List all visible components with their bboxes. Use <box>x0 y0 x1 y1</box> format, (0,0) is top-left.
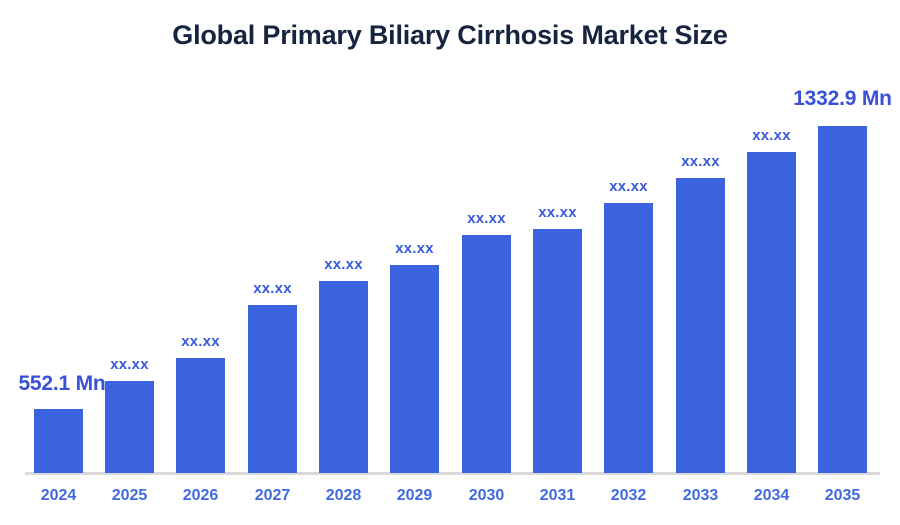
bar-2033[interactable] <box>676 178 725 473</box>
bar-value-label-2024: 552.1 Mn <box>10 372 114 396</box>
bar-value-label-2030: xx.xx <box>453 210 520 227</box>
x-tick-2031: 2031 <box>528 487 588 505</box>
bar-2032[interactable] <box>604 203 653 473</box>
x-tick-2027: 2027 <box>243 487 303 505</box>
bar-2030[interactable] <box>462 235 511 473</box>
bar-value-label-2028: xx.xx <box>310 256 377 273</box>
x-tick-2034: 2034 <box>742 487 802 505</box>
bar-2031[interactable] <box>533 229 582 473</box>
bar-2026[interactable] <box>176 358 225 473</box>
bar-value-label-2034: xx.xx <box>738 127 805 144</box>
x-tick-2035: 2035 <box>813 487 873 505</box>
x-tick-2028: 2028 <box>314 487 374 505</box>
x-tick-2029: 2029 <box>385 487 445 505</box>
bar-value-label-2033: xx.xx <box>667 153 734 170</box>
bar-2027[interactable] <box>248 305 297 473</box>
bar-value-label-2035: 1332.9 Mn <box>780 87 900 111</box>
plot-area: 552.1 Mnxx.xxxx.xxxx.xxxx.xxxx.xxxx.xxxx… <box>0 0 900 525</box>
bar-2028[interactable] <box>319 281 368 473</box>
bar-value-label-2027: xx.xx <box>239 280 306 297</box>
bar-value-label-2031: xx.xx <box>524 204 591 221</box>
x-tick-2030: 2030 <box>457 487 517 505</box>
bar-2029[interactable] <box>390 265 439 473</box>
x-tick-2033: 2033 <box>671 487 731 505</box>
bar-2034[interactable] <box>747 152 796 473</box>
chart-container: Global Primary Biliary Cirrhosis Market … <box>0 0 900 525</box>
x-tick-2024: 2024 <box>29 487 89 505</box>
bar-value-label-2029: xx.xx <box>381 240 448 257</box>
bar-2035[interactable] <box>818 126 867 473</box>
bar-value-label-2025: xx.xx <box>96 356 163 373</box>
x-tick-2032: 2032 <box>599 487 659 505</box>
bar-2024[interactable] <box>34 409 83 473</box>
bar-value-label-2032: xx.xx <box>595 178 662 195</box>
bar-value-label-2026: xx.xx <box>167 333 234 350</box>
x-tick-2026: 2026 <box>171 487 231 505</box>
x-tick-2025: 2025 <box>100 487 160 505</box>
